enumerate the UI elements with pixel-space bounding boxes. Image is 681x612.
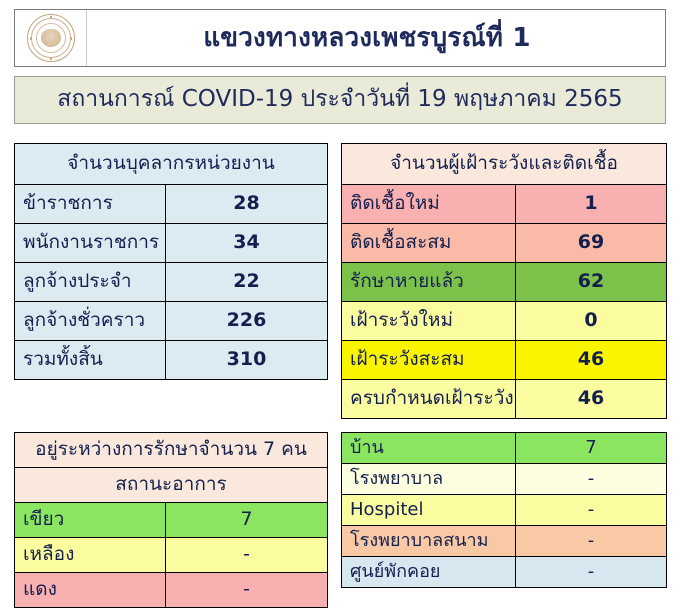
row-value: 1 [516, 185, 667, 224]
table-row: แดง - [15, 573, 328, 608]
row-label: ลูกจ้างชั่วคราว [15, 302, 166, 341]
table-row: เฝ้าระวังใหม่ 0 [342, 302, 667, 341]
surveillance-table-header: จำนวนผู้เฝ้าระวังและติดเชื้อ [342, 144, 667, 185]
row-label: โรงพยาบาลสนาม [342, 526, 516, 557]
table-row: พนักงานราชการ 34 [15, 224, 328, 263]
under-treatment-table: อยู่ระหว่างการรักษาจำนวน 7 คน สถานะอาการ… [14, 432, 328, 608]
row-label: ลูกจ้างประจำ [15, 263, 166, 302]
table-row-total: รวมทั้งสิ้น 310 [15, 341, 328, 380]
row-value: 46 [516, 380, 667, 419]
row-label: ศูนย์พักคอย [342, 557, 516, 588]
table-row: ลูกจ้างประจำ 22 [15, 263, 328, 302]
row-value: 69 [516, 224, 667, 263]
row-label: พนักงานราชการ [15, 224, 166, 263]
row-label: เฝ้าระวังใหม่ [342, 302, 516, 341]
row-label: เขียว [15, 503, 166, 538]
row-label: Hospitel [342, 495, 516, 526]
row-label: ครบกำหนดเฝ้าระวัง [342, 380, 516, 419]
row-label: เฝ้าระวังสะสม [342, 341, 516, 380]
table-row: เหลือง - [15, 538, 328, 573]
row-value: 7 [516, 433, 667, 464]
row-label: รักษาหายแล้ว [342, 263, 516, 302]
row-value: 46 [516, 341, 667, 380]
treating-table-header: อยู่ระหว่างการรักษาจำนวน 7 คน [15, 433, 328, 468]
table-row: Hospitel - [342, 495, 667, 526]
row-label: โรงพยาบาล [342, 464, 516, 495]
staff-table-header: จำนวนบุคลากรหน่วยงาน [15, 144, 328, 185]
table-row: บ้าน 7 [342, 433, 667, 464]
logo-cell [15, 10, 87, 66]
table-row: โรงพยาบาลสนาม - [342, 526, 667, 557]
row-label: เหลือง [15, 538, 166, 573]
row-label: ติดเชื้อใหม่ [342, 185, 516, 224]
row-value: 310 [166, 341, 328, 380]
row-value: 0 [516, 302, 667, 341]
row-value: - [516, 464, 667, 495]
table-row: ข้าราชการ 28 [15, 185, 328, 224]
row-value: - [166, 573, 328, 608]
table-header-row: จำนวนบุคลากรหน่วยงาน [15, 144, 328, 185]
table-row: ติดเชื้อสะสม 69 [342, 224, 667, 263]
row-value: - [516, 495, 667, 526]
row-value: 28 [166, 185, 328, 224]
row-value: 34 [166, 224, 328, 263]
table-row: ครบกำหนดเฝ้าระวัง 46 [342, 380, 667, 419]
table-row: ลูกจ้างชั่วคราว 226 [15, 302, 328, 341]
table-row: เฝ้าระวังสะสม 46 [342, 341, 667, 380]
row-value: - [166, 538, 328, 573]
row-value: - [516, 557, 667, 588]
row-label: แดง [15, 573, 166, 608]
staff-count-table: จำนวนบุคลากรหน่วยงาน ข้าราชการ 28 พนักงา… [14, 143, 328, 380]
row-value: 226 [166, 302, 328, 341]
table-row: เขียว 7 [15, 503, 328, 538]
table-row: ศูนย์พักคอย - [342, 557, 667, 588]
row-label: บ้าน [342, 433, 516, 464]
row-label: ติดเชื้อสะสม [342, 224, 516, 263]
table-header-row: อยู่ระหว่างการรักษาจำนวน 7 คน [15, 433, 328, 468]
row-value: 62 [516, 263, 667, 302]
row-value: 22 [166, 263, 328, 302]
row-value: - [516, 526, 667, 557]
header-banner: แขวงทางหลวงเพชรบูรณ์ที่ 1 [14, 9, 666, 67]
table-row: รักษาหายแล้ว 62 [342, 263, 667, 302]
table-row: ติดเชื้อใหม่ 1 [342, 185, 667, 224]
table-subheader-row: สถานะอาการ [15, 468, 328, 503]
department-seal-icon [27, 14, 75, 62]
row-label: ข้าราชการ [15, 185, 166, 224]
row-label: รวมทั้งสิ้น [15, 341, 166, 380]
table-row: โรงพยาบาล - [342, 464, 667, 495]
treatment-location-table: บ้าน 7 โรงพยาบาล - Hospitel - โรงพยาบาลส… [341, 432, 667, 588]
table-header-row: จำนวนผู้เฝ้าระวังและติดเชื้อ [342, 144, 667, 185]
page-subtitle: สถานการณ์ COVID-19 ประจำวันที่ 19 พฤษภาค… [14, 76, 666, 124]
treating-table-subheader: สถานะอาการ [15, 468, 328, 503]
row-value: 7 [166, 503, 328, 538]
page-title: แขวงทางหลวงเพชรบูรณ์ที่ 1 [87, 24, 665, 53]
surveillance-infection-table: จำนวนผู้เฝ้าระวังและติดเชื้อ ติดเชื้อใหม… [341, 143, 667, 419]
